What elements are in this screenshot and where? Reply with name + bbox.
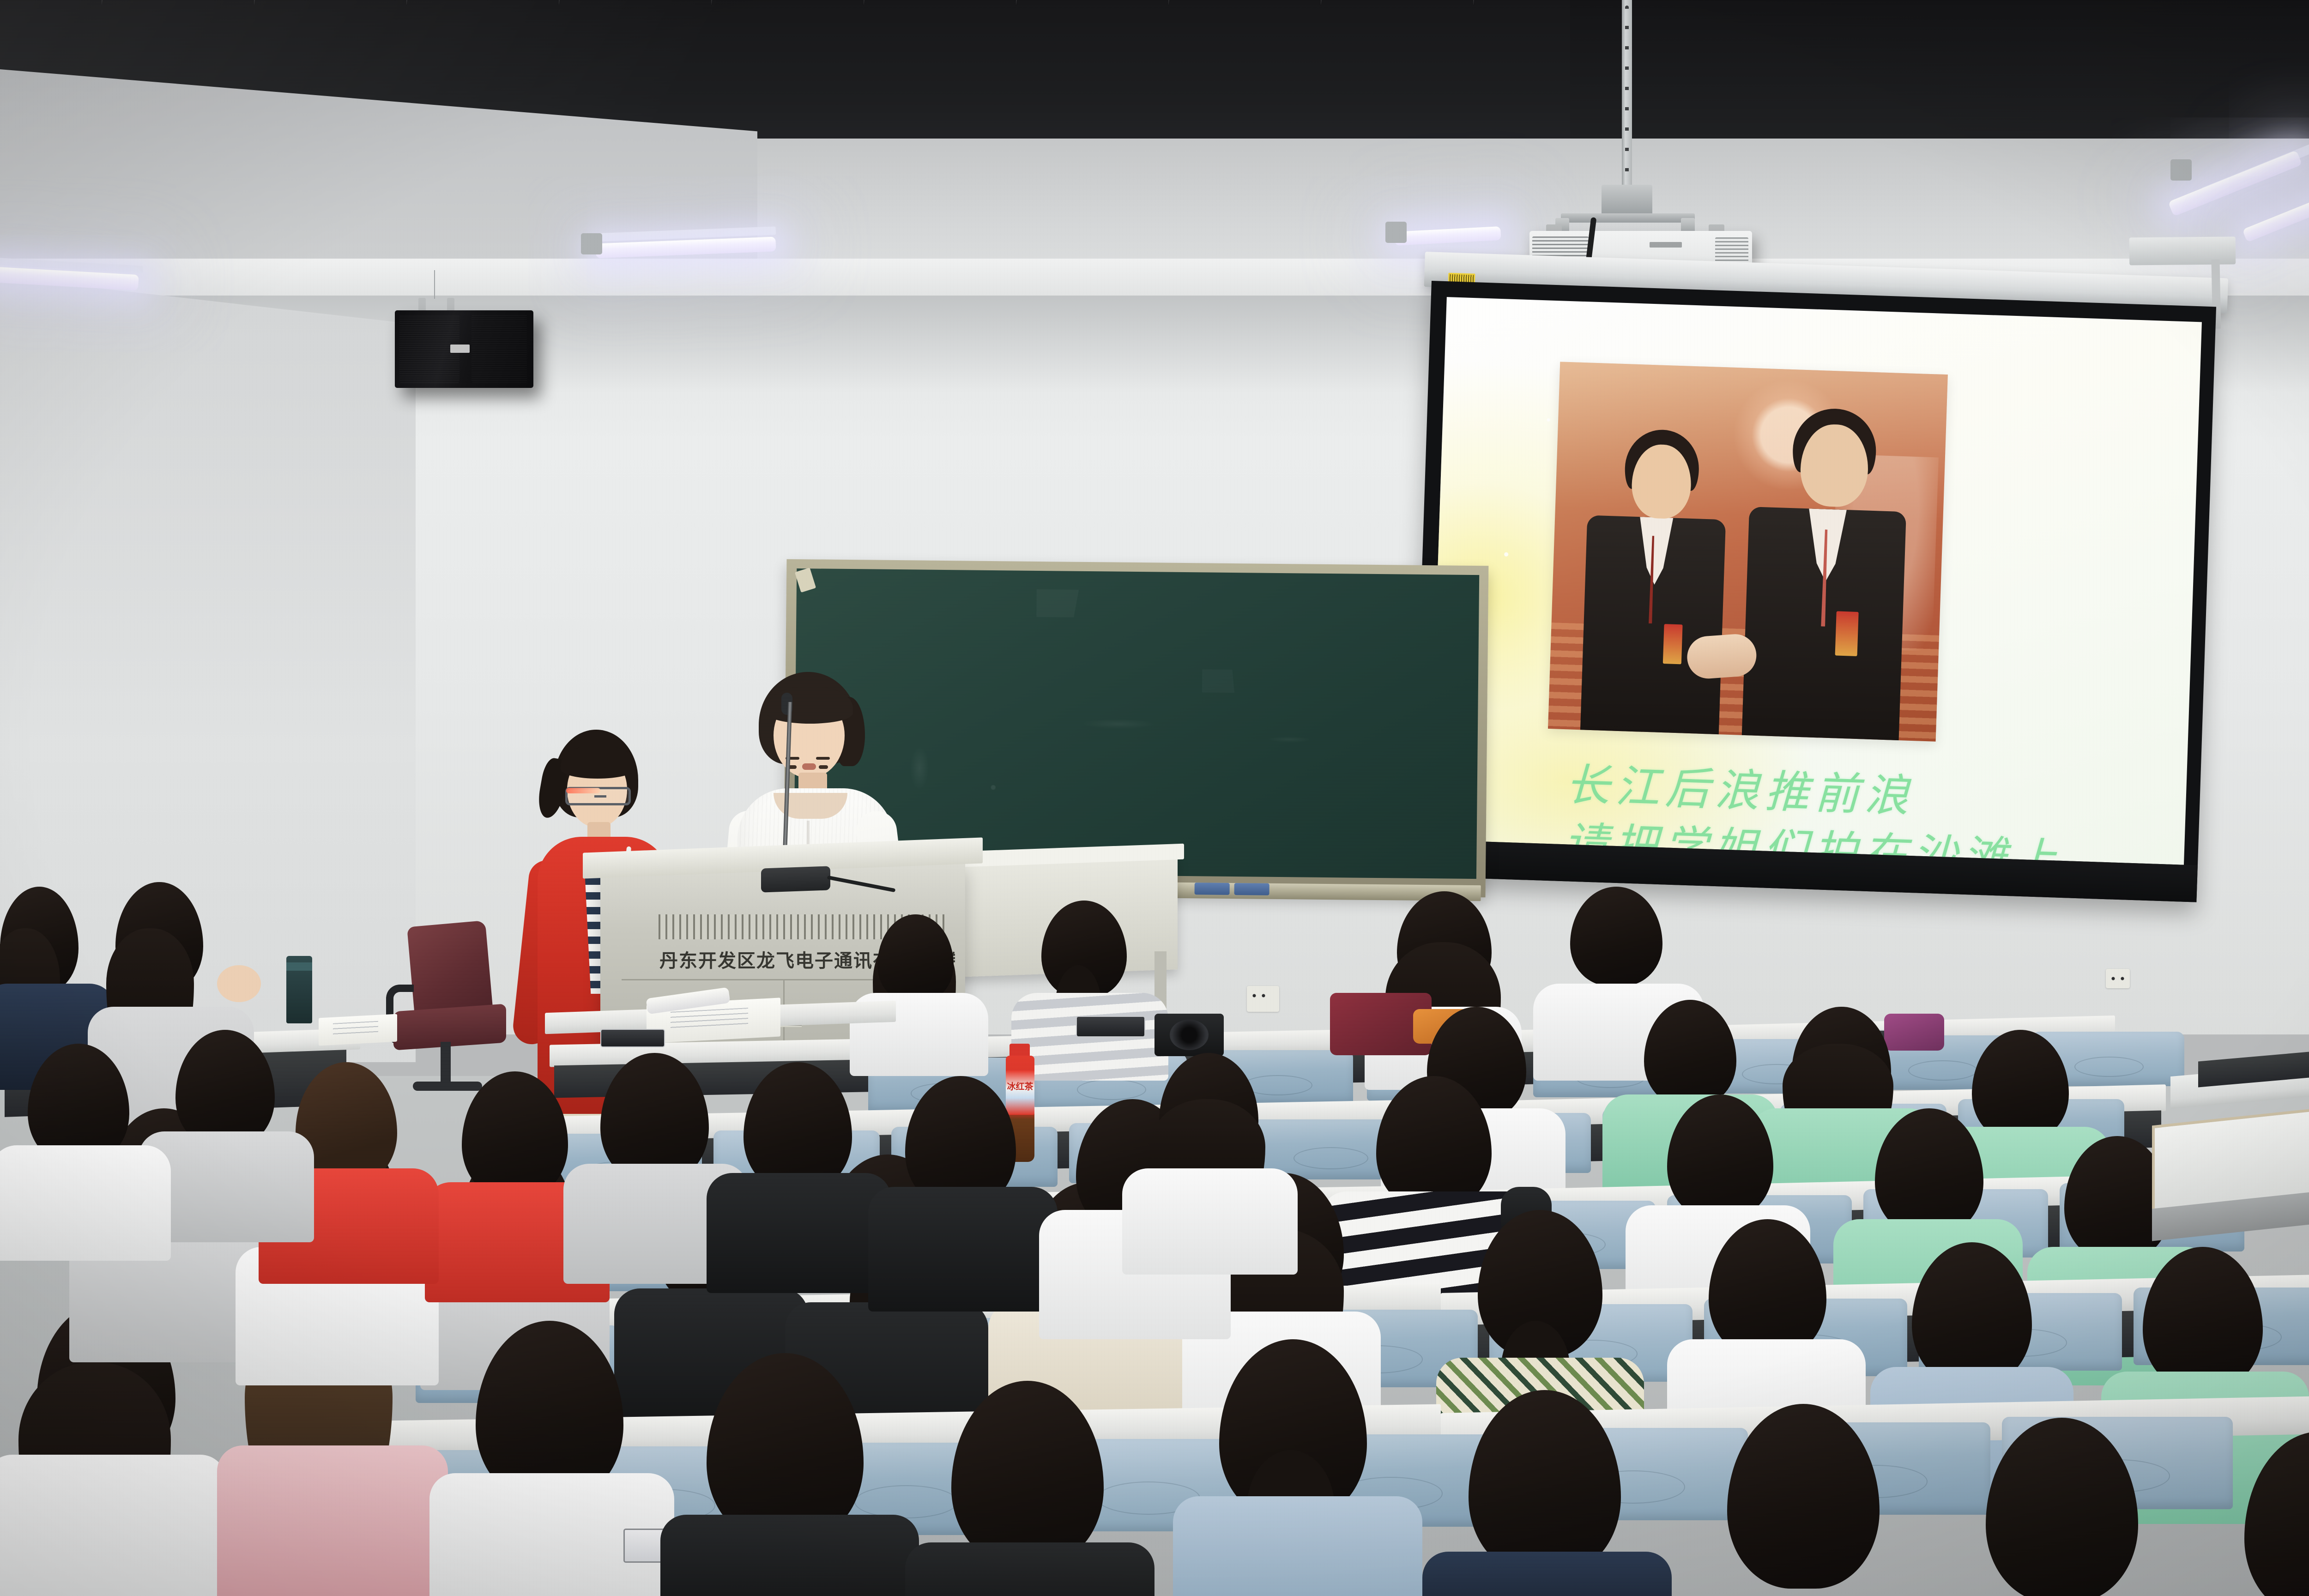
teacher-mouth bbox=[802, 763, 816, 770]
wall-speaker bbox=[395, 310, 533, 388]
ceiling-dark-panel-right bbox=[1570, 0, 2309, 139]
light-endcap-3 bbox=[2170, 159, 2192, 181]
speaker-hanger-wire bbox=[434, 270, 435, 299]
lecture-hall-scene: 长江后浪推前浪 请把学姐们拍在沙滩上 bbox=[0, 0, 2309, 1596]
student-e-2-body bbox=[217, 1445, 448, 1596]
projector-brand-label bbox=[1650, 242, 1682, 248]
teacher-brow-right bbox=[816, 757, 830, 760]
camera-on-desk[interactable] bbox=[1154, 1014, 1224, 1056]
bottle-label-red: 冰红茶 bbox=[1006, 1070, 1034, 1115]
projector-mount-arm bbox=[1561, 213, 1695, 223]
slide-figure-right-badge bbox=[1835, 611, 1859, 656]
student-left-6-body bbox=[0, 1145, 171, 1261]
projector-mount-plate bbox=[1602, 185, 1652, 215]
eraser-1[interactable] bbox=[1195, 883, 1230, 895]
thermos-bottle[interactable] bbox=[286, 956, 312, 1023]
slide-figure-left-badge bbox=[1663, 624, 1683, 664]
projector-mount-pole bbox=[1622, 0, 1632, 190]
assistant-bangs bbox=[561, 746, 635, 779]
observer-hand-2 bbox=[217, 965, 261, 1002]
screen-wall-bracket bbox=[2129, 236, 2236, 265]
microphone-base bbox=[761, 866, 830, 892]
bag-purple[interactable] bbox=[1884, 1014, 1944, 1051]
eraser-2[interactable] bbox=[1234, 883, 1269, 895]
slide-surface: 长江后浪推前浪 请把学姐们拍在沙滩上 bbox=[1429, 297, 2202, 865]
phone-front-desk[interactable] bbox=[600, 1029, 665, 1047]
projection-screen[interactable]: 长江后浪推前浪 请把学姐们拍在沙滩上 bbox=[1412, 281, 2216, 902]
speaker-brand-logo bbox=[450, 345, 470, 353]
phone-on-desk-back[interactable] bbox=[1076, 1016, 1145, 1037]
student-mid-2-body bbox=[707, 1173, 891, 1293]
teacher-eye-right bbox=[819, 765, 828, 769]
chair-base bbox=[413, 1082, 482, 1091]
bottle-label-text-red: 冰红茶 bbox=[1006, 1082, 1034, 1091]
student-mid-3-body bbox=[868, 1187, 1058, 1312]
student-e-7-body bbox=[1422, 1552, 1672, 1596]
student-mid-5-body bbox=[1122, 1168, 1298, 1275]
student-e-1-body bbox=[0, 1455, 226, 1596]
chair-gas-post bbox=[441, 1042, 451, 1086]
student-e-4-body bbox=[660, 1515, 919, 1596]
teacher-bangs bbox=[767, 688, 853, 724]
slide-photo bbox=[1548, 362, 1948, 741]
student-e-5-body bbox=[905, 1542, 1154, 1596]
assistant-glasses-glint bbox=[566, 788, 600, 793]
light-endcap-2 bbox=[1385, 222, 1407, 243]
light-endcap-1 bbox=[581, 233, 602, 254]
observer-notebook[interactable] bbox=[319, 1014, 397, 1046]
student-e-6-body bbox=[1173, 1496, 1422, 1596]
wall-panel-center[interactable] bbox=[1247, 986, 1279, 1012]
slide-handshake bbox=[1686, 633, 1758, 680]
wall-plate-left[interactable] bbox=[2106, 969, 2130, 988]
